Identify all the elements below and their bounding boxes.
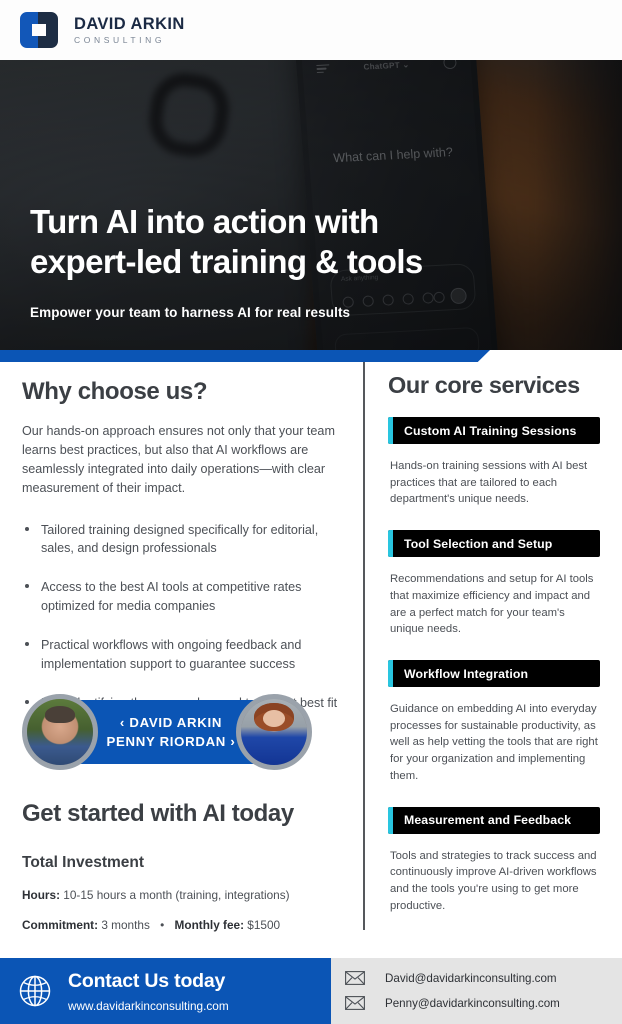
hours-value: 10-15 hours a month (training, integrati… — [63, 888, 289, 902]
penny-riordan-avatar — [236, 694, 312, 770]
envelope-icon — [345, 996, 365, 1010]
service-title: Tool Selection and Setup — [404, 537, 552, 551]
hours-line: Hours: 10-15 hours a month (training, in… — [22, 888, 352, 902]
list-item: Tailored training designed specifically … — [22, 521, 352, 559]
service-item: Custom AI Training Sessions — [388, 417, 600, 444]
david-arkin-avatar — [22, 694, 98, 770]
service-title: Workflow Integration — [404, 667, 528, 681]
hours-label: Hours: — [22, 888, 60, 902]
fee-label: Monthly fee: — [175, 918, 244, 932]
service-item: Measurement and Feedback — [388, 807, 600, 834]
hero-title-line-1: Turn AI into action with — [30, 202, 575, 243]
hero-banner: ChatGPT ⌄ What can I help with? Ask anyt… — [0, 60, 622, 350]
page-header: DAVID ARKIN CONSULTING — [0, 0, 622, 60]
list-item: Access to the best AI tools at competiti… — [22, 578, 352, 616]
why-choose-us-intro: Our hands-on approach ensures not only t… — [22, 422, 352, 499]
hero-title-line-2: expert-led training & tools — [30, 242, 575, 283]
core-services-heading: Our core services — [388, 372, 600, 399]
email-address[interactable]: Penny@davidarkinconsulting.com — [385, 997, 560, 1010]
service-title-bar: Tool Selection and Setup — [388, 530, 600, 557]
service-title-bar: Measurement and Feedback — [388, 807, 600, 834]
service-description: Recommendations and setup for AI tools t… — [388, 571, 600, 638]
total-investment-heading: Total Investment — [22, 854, 352, 872]
fee-value: $1500 — [247, 918, 280, 932]
service-description: Tools and strategies to track success an… — [388, 848, 600, 915]
contact-title: Contact Us today — [68, 970, 229, 993]
service-title: Custom AI Training Sessions — [404, 424, 576, 438]
commitment-value: 3 months — [101, 918, 150, 932]
service-item: Workflow Integration — [388, 660, 600, 687]
bullet-separator: • — [160, 918, 164, 932]
presenters-banner: ‹ DAVID ARKIN PENNY RIORDAN › — [22, 694, 312, 772]
why-choose-us-heading: Why choose us? — [22, 378, 352, 406]
hero-subtitle: Empower your team to harness AI for real… — [30, 305, 575, 320]
globe-icon — [18, 974, 52, 1008]
website-url[interactable]: www.davidarkinconsulting.com — [68, 999, 229, 1013]
presenter-name-right: PENNY RIORDAN › — [107, 732, 236, 751]
contact-block: Contact Us today www.davidarkinconsultin… — [0, 958, 331, 1024]
service-title: Measurement and Feedback — [404, 813, 571, 827]
service-title-bar: Custom AI Training Sessions — [388, 417, 600, 444]
service-title-bar: Workflow Integration — [388, 660, 600, 687]
flyer-page: DAVID ARKIN CONSULTING ChatGPT ⌄ What ca… — [0, 0, 622, 1024]
service-description: Guidance on embedding AI into everyday p… — [388, 701, 600, 785]
commitment-label: Commitment: — [22, 918, 98, 932]
email-address[interactable]: David@davidarkinconsulting.com — [385, 972, 557, 985]
commitment-line: Commitment: 3 months • Monthly fee: $150… — [22, 918, 352, 932]
list-item: Practical workflows with ongoing feedbac… — [22, 636, 352, 674]
right-column: Our core services Custom AI Training Ses… — [388, 372, 600, 937]
hero-copy: Turn AI into action with expert-led trai… — [30, 202, 575, 320]
service-item: Tool Selection and Setup — [388, 530, 600, 557]
service-description: Hands-on training sessions with AI best … — [388, 458, 600, 508]
get-started-section: Get started with AI today Total Investme… — [22, 800, 352, 932]
column-divider — [363, 362, 365, 930]
logo-company-sub: CONSULTING — [74, 36, 185, 45]
emails-block: David@davidarkinconsulting.com Penny@dav… — [331, 958, 622, 1024]
interlocking-squares-logo-icon — [16, 10, 62, 50]
email-row[interactable]: Penny@davidarkinconsulting.com — [345, 996, 622, 1010]
envelope-icon — [345, 971, 365, 985]
logo-company-name: DAVID ARKIN — [74, 16, 185, 33]
presenter-name-left: ‹ DAVID ARKIN — [120, 713, 222, 732]
page-footer: Contact Us today www.davidarkinconsultin… — [0, 958, 622, 1024]
hero-accent-bar — [0, 350, 490, 362]
email-row[interactable]: David@davidarkinconsulting.com — [345, 971, 622, 985]
get-started-heading: Get started with AI today — [22, 800, 352, 828]
